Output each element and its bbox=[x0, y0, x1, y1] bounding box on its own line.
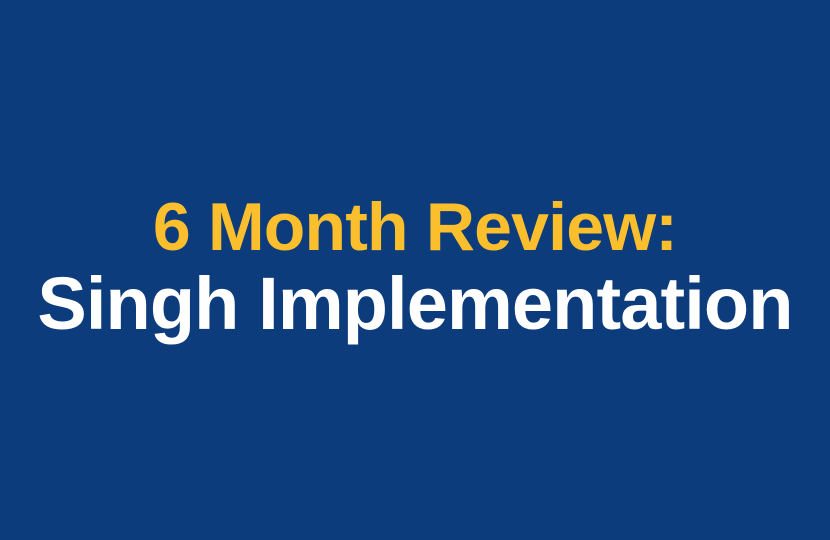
slide-title-line-1: 6 Month Review: bbox=[24, 193, 806, 261]
title-slide: 6 Month Review: Singh Implementation bbox=[0, 0, 830, 540]
slide-title-block: 6 Month Review: Singh Implementation bbox=[0, 193, 830, 341]
slide-title-line-2: Singh Implementation bbox=[24, 267, 806, 341]
